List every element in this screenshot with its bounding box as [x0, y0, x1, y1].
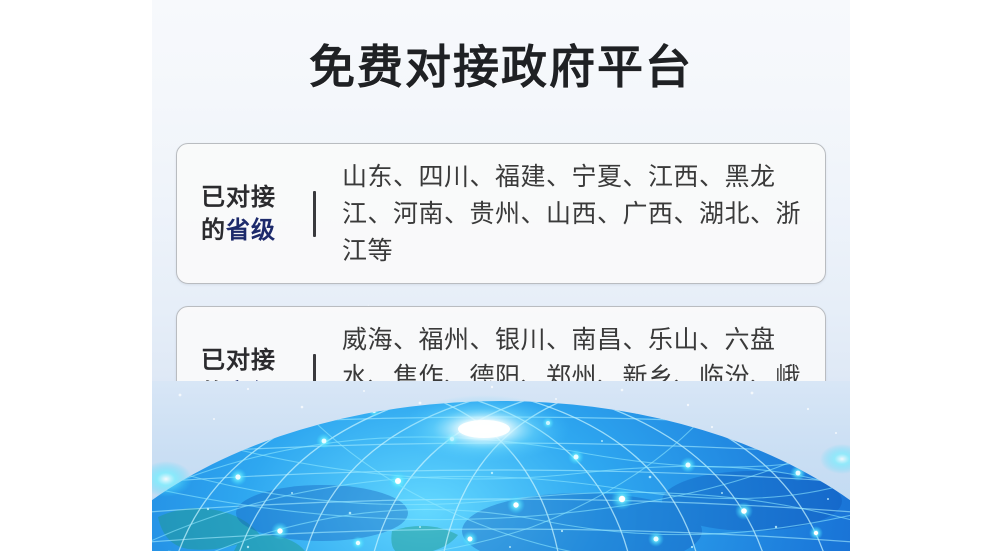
card-province-level: 已对接 的省级 山东、四川、福建、宁夏、江西、黑龙江、河南、贵州、山西、广西、湖…	[176, 143, 826, 284]
card-divider-province	[313, 191, 316, 237]
card-label-city-line1: 已对接	[201, 344, 305, 377]
card-label-province-highlight: 省级	[226, 216, 276, 244]
card-label-province: 已对接 的省级	[201, 181, 305, 247]
letterbox-left	[0, 0, 152, 551]
letterbox-right	[850, 0, 1000, 551]
card-label-province-line2: 的省级	[201, 214, 305, 247]
globe-network-illustration	[152, 381, 850, 551]
page-title: 免费对接政府平台	[152, 38, 850, 96]
screenshot-canvas: 免费对接政府平台 已对接 的省级 山东、四川、福建、宁夏、江西、黑龙江、河南、贵…	[0, 0, 1000, 551]
card-label-province-prefix: 的	[201, 216, 226, 244]
card-body-province: 山东、四川、福建、宁夏、江西、黑龙江、河南、贵州、山西、广西、湖北、浙江等	[342, 158, 807, 269]
globe-svg	[152, 381, 850, 551]
card-label-province-line1: 已对接	[201, 181, 305, 214]
poster-content: 免费对接政府平台 已对接 的省级 山东、四川、福建、宁夏、江西、黑龙江、河南、贵…	[152, 0, 850, 551]
globe-hotspot-core	[458, 420, 510, 438]
